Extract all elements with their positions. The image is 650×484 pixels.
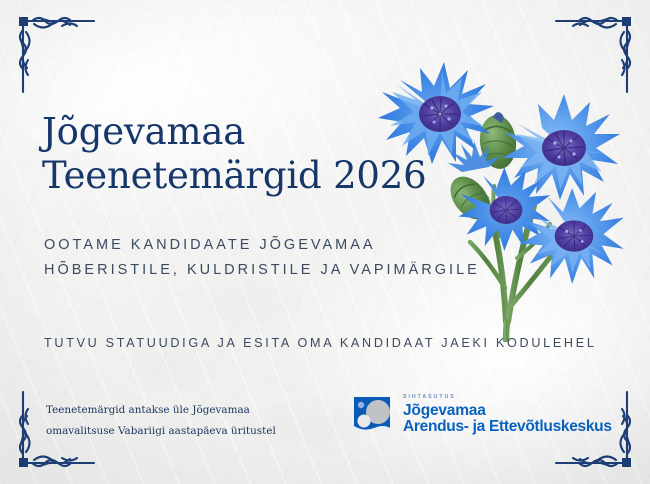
logo-line-2: Arendus- ja Ettevõtluskeskus	[403, 419, 612, 435]
call-to-action-text: TUTVU STATUUDIGA JA ESITA OMA KANDIDAAT …	[44, 336, 597, 350]
organization-logo[interactable]: SIHTASUTUS Jõgevamaa Arendus- ja Ettevõt…	[352, 393, 612, 437]
page-title: Jõgevamaa Teenetemärgid 2026	[42, 110, 426, 197]
logo-line-1: Jõgevamaa	[403, 403, 612, 419]
logo-wordmark: SIHTASUTUS Jõgevamaa Arendus- ja Ettevõt…	[403, 395, 612, 434]
poster-canvas: Jõgevamaa Teenetemärgid 2026 OOTAME KAND…	[0, 0, 650, 484]
logo-kicker-text: SIHTASUTUS	[403, 395, 612, 400]
subheading-text: OOTAME KANDIDAATE JÕGEVAMAA HÕBERISTILE,…	[44, 233, 480, 283]
footnote-text: Teenetemärgid antakse üle Jõgevamaa omav…	[46, 400, 276, 443]
jaek-logo-mark-icon	[352, 393, 396, 437]
